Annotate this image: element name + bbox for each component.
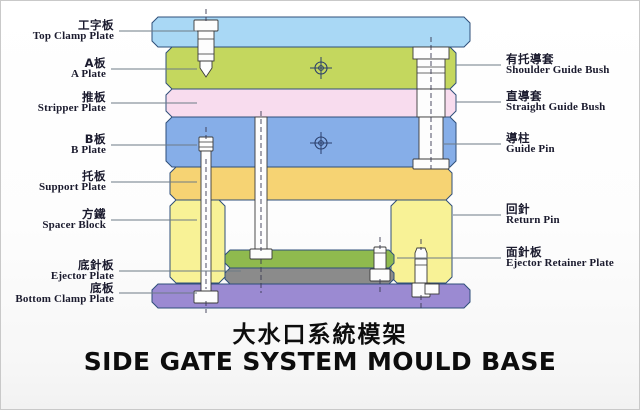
title-english: SIDE GATE SYSTEM MOULD BASE (1, 347, 639, 376)
label-support-plate: 托板 Support Plate (39, 170, 106, 194)
label-shoulder-guide-bush-en: Shoulder Guide Bush (506, 65, 610, 77)
label-ejector-plate: 底針板 Ejector Plate (51, 259, 114, 283)
title-chinese: 大水口系統模架 (1, 315, 639, 349)
label-a-plate: A板 A Plate (71, 57, 106, 81)
label-spacer-block: 方鐵 Spacer Block (42, 208, 106, 232)
label-return-pin-en: Return Pin (506, 215, 560, 227)
label-stripper-plate-en: Stripper Plate (38, 103, 106, 115)
label-top-clamp-plate-en: Top Clamp Plate (33, 31, 114, 43)
label-a-plate-en: A Plate (71, 69, 106, 81)
label-spacer-block-en: Spacer Block (42, 220, 106, 232)
label-b-plate: B板 B Plate (71, 133, 106, 157)
label-ejector-retainer-plate: 面針板 Ejector Retainer Plate (506, 246, 614, 270)
label-straight-guide-bush-en: Straight Guide Bush (506, 102, 605, 114)
label-shoulder-guide-bush: 有托導套 Shoulder Guide Bush (506, 53, 610, 77)
label-guide-pin: 導柱 Guide Pin (506, 132, 555, 156)
plate-ejector (225, 268, 394, 284)
label-bottom-clamp-plate: 底板 Bottom Clamp Plate (15, 282, 114, 306)
label-stripper-plate: 推板 Stripper Plate (38, 91, 106, 115)
guide-pin-retaining-screw (425, 284, 439, 294)
label-top-clamp-plate: 工字板 Top Clamp Plate (33, 19, 114, 43)
plate-support (170, 167, 452, 200)
label-support-plate-en: Support Plate (39, 182, 106, 194)
diagram-page: 工字板 Top Clamp Plate A板 A Plate 推板 Stripp… (0, 0, 640, 410)
plate-stripper (166, 89, 456, 117)
label-straight-guide-bush: 直導套 Straight Guide Bush (506, 90, 605, 114)
label-b-plate-en: B Plate (71, 145, 106, 157)
label-ejector-retainer-plate-en: Ejector Retainer Plate (506, 258, 614, 270)
label-bottom-clamp-plate-en: Bottom Clamp Plate (15, 294, 114, 306)
label-return-pin: 回針 Return Pin (506, 203, 560, 227)
label-guide-pin-en: Guide Pin (506, 144, 555, 156)
